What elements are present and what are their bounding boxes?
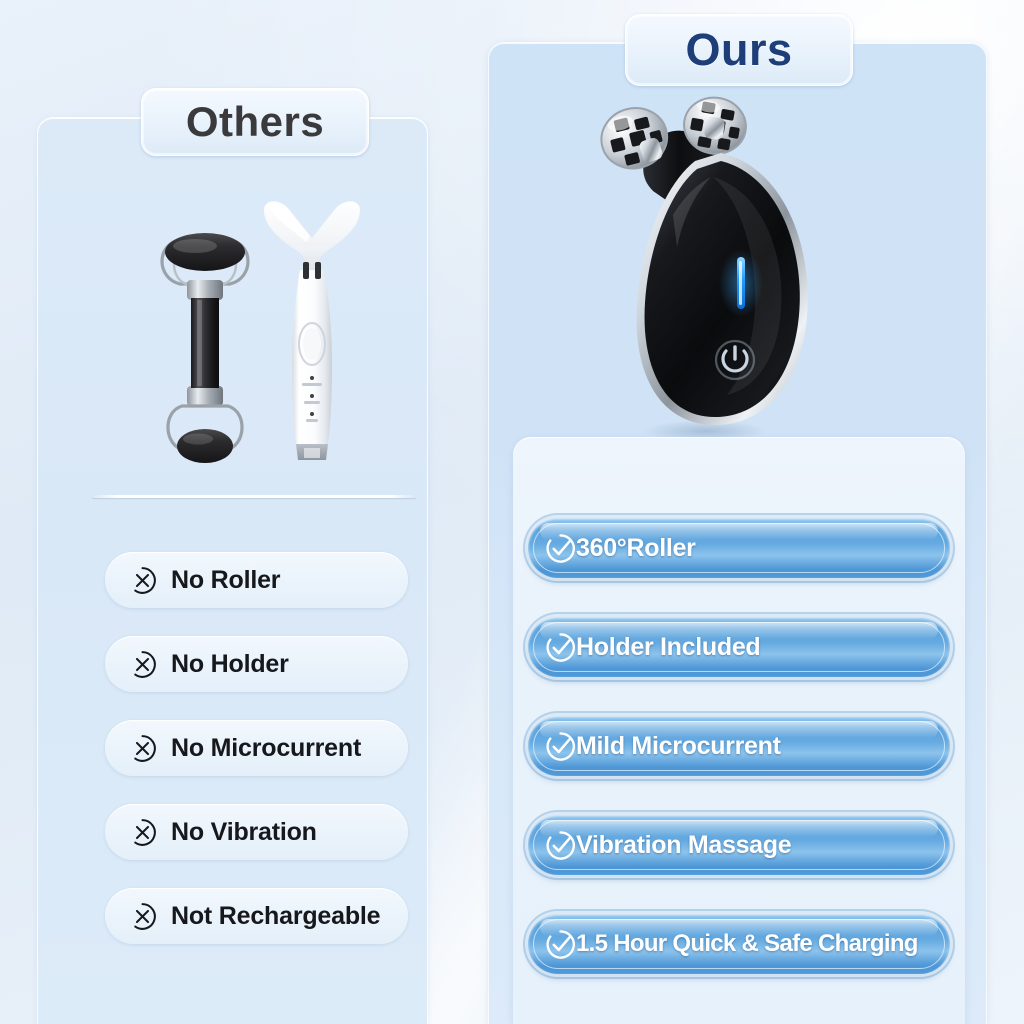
- others-badge: Others: [141, 88, 369, 156]
- check-circle-icon: [545, 731, 576, 762]
- list-item[interactable]: Mild Microcurrent: [528, 716, 950, 776]
- x-circle-icon: [128, 650, 157, 679]
- list-item-label: Mild Microcurrent: [576, 732, 781, 761]
- check-circle-icon: [545, 929, 576, 960]
- black-dual-roller-face-device: [545, 95, 825, 445]
- list-item[interactable]: No Roller: [105, 552, 408, 608]
- list-item[interactable]: No Holder: [105, 636, 408, 692]
- check-circle-icon: [545, 533, 576, 564]
- list-item[interactable]: 1.5 Hour Quick & Safe Charging: [528, 914, 950, 974]
- others-badge-label: Others: [186, 98, 324, 146]
- list-item-label: Holder Included: [576, 633, 760, 662]
- list-item-label: No Microcurrent: [171, 734, 361, 763]
- comparison-infographic: No Roller No Holder No Microcurrent No V…: [0, 0, 1024, 1024]
- x-circle-icon: [128, 818, 157, 847]
- list-item-label: 1.5 Hour Quick & Safe Charging: [576, 930, 918, 958]
- list-item[interactable]: Vibration Massage: [528, 815, 950, 875]
- ours-badge: Ours: [625, 14, 853, 86]
- list-item-label: No Roller: [171, 566, 280, 595]
- x-circle-icon: [128, 566, 157, 595]
- list-item[interactable]: Holder Included: [528, 617, 950, 677]
- x-circle-icon: [128, 734, 157, 763]
- list-item[interactable]: Not Rechargeable: [105, 888, 408, 944]
- list-item-label: No Vibration: [171, 818, 317, 847]
- list-item[interactable]: 360°Roller: [528, 518, 950, 578]
- list-item-label: 360°Roller: [576, 534, 696, 563]
- others-feature-list: No Roller No Holder No Microcurrent No V…: [105, 552, 408, 972]
- list-item-label: No Holder: [171, 650, 289, 679]
- check-circle-icon: [545, 632, 576, 663]
- list-item-label: Vibration Massage: [576, 831, 791, 860]
- x-circle-icon: [128, 902, 157, 931]
- check-circle-icon: [545, 830, 576, 861]
- list-item-label: Not Rechargeable: [171, 902, 380, 931]
- jade-roller-massager: [150, 218, 260, 468]
- ours-badge-label: Ours: [685, 24, 792, 76]
- white-neck-massager-wand: [258, 196, 366, 464]
- ours-feature-list: 360°Roller Holder Included Mild Microcur…: [528, 518, 950, 1013]
- list-item[interactable]: No Microcurrent: [105, 720, 408, 776]
- list-item[interactable]: No Vibration: [105, 804, 408, 860]
- others-divider: [92, 495, 416, 498]
